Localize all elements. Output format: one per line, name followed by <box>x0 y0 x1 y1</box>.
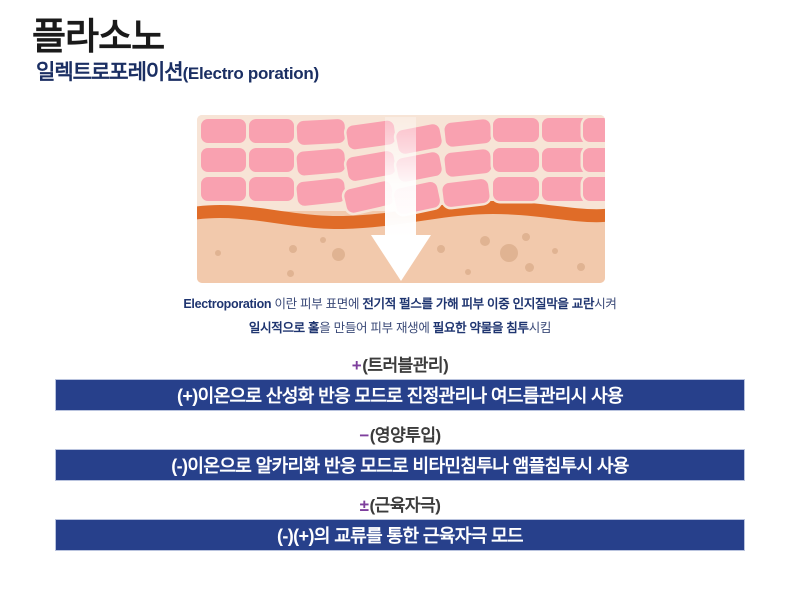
mode-label-trouble-care: +(트러블관리) <box>0 352 800 379</box>
plus-minus-sign-icon: ± <box>360 496 370 515</box>
mode-bar-text: (-)(+)의 교류를 통한 근육자극 모드 <box>277 522 523 548</box>
skin-cell <box>201 177 246 201</box>
particle <box>289 245 297 253</box>
particle <box>577 263 585 271</box>
skin-cell <box>583 148 605 172</box>
mode-bar-nutrition[interactable]: (-)이온으로 알카리화 반응 모드로 비타민침투나 앰플침투시 사용 <box>55 449 745 481</box>
mode-bar-text: (+)이온으로 산성화 반응 모드로 진정관리나 여드름관리시 사용 <box>177 382 623 408</box>
skin-cell <box>442 178 491 207</box>
particle <box>525 263 534 272</box>
skin-cell <box>493 148 539 172</box>
particle <box>320 237 326 243</box>
mode-bar-text: (-)이온으로 알카리화 반응 모드로 비타민침투나 앰플침투시 사용 <box>171 452 629 478</box>
mode-bar-trouble-care[interactable]: (+)이온으로 산성화 반응 모드로 진정관리나 여드름관리시 사용 <box>55 379 745 411</box>
downward-arrow-icon <box>357 117 445 281</box>
arrow-stem <box>385 117 416 239</box>
skin-cell <box>583 118 605 142</box>
spacer <box>0 481 800 492</box>
description-line-1: Electroporation 이란 피부 표면에 전기적 펄스를 가해 피부 … <box>0 292 800 316</box>
mode-label-nutrition: −(영양투입) <box>0 422 800 449</box>
page-header: 플라소노 일렉트로포레이션(Electro poration) <box>32 18 672 84</box>
skin-cell <box>493 118 539 142</box>
plain-text: 을 만들어 피부 재생에 <box>319 321 433 335</box>
emphasis-text: 전기적 펄스를 가해 피부 이중 인지질막을 교란 <box>362 297 594 311</box>
skin-cell <box>296 148 346 176</box>
mode-label-text: (근육자극) <box>369 496 440 515</box>
skin-cell <box>444 149 492 178</box>
particle <box>522 233 530 241</box>
mode-block-nutrition: −(영양투입) (-)이온으로 알카리화 반응 모드로 비타민침투나 앰플침투시… <box>0 422 800 481</box>
plus-sign-icon: + <box>352 356 362 375</box>
mode-label-text: (영양투입) <box>370 426 441 445</box>
particle <box>552 248 558 254</box>
skin-cell <box>249 148 294 172</box>
arrow-head <box>371 235 431 281</box>
skin-cell <box>444 119 492 148</box>
plain-text: 시켜 <box>594 297 616 311</box>
skin-cell <box>249 177 294 201</box>
particle <box>465 269 471 275</box>
skin-cell <box>296 119 345 145</box>
subtitle-korean: 일렉트로포레이션 <box>36 61 183 84</box>
plain-text: 시킴 <box>529 321 551 335</box>
mode-bar-muscle-stimulation[interactable]: (-)(+)의 교류를 통한 근육자극 모드 <box>55 519 745 551</box>
plain-text: 이란 피부 표면에 <box>271 297 362 311</box>
skin-cell <box>201 148 246 172</box>
page-title: 플라소노 <box>32 18 672 57</box>
emphasis-text: 필요한 약물을 침투 <box>433 321 529 335</box>
particle <box>480 236 490 246</box>
skin-cell <box>493 177 539 201</box>
mode-block-trouble-care: +(트러블관리) (+)이온으로 산성화 반응 모드로 진정관리나 여드름관리시… <box>0 352 800 411</box>
minus-sign-icon: − <box>359 426 369 445</box>
skin-cell <box>201 119 246 143</box>
description-text: Electroporation 이란 피부 표면에 전기적 펄스를 가해 피부 … <box>0 292 800 341</box>
skin-cell <box>296 178 346 207</box>
subtitle-english: (Electro poration) <box>183 64 319 83</box>
particle <box>215 250 221 256</box>
skin-cell <box>583 177 605 201</box>
page-subtitle: 일렉트로포레이션(Electro poration) <box>36 61 672 84</box>
skin-cell <box>542 118 588 142</box>
skin-cell <box>542 148 588 172</box>
mode-label-text: (트러블관리) <box>362 356 448 375</box>
mode-block-muscle-stimulation: ±(근육자극) (-)(+)의 교류를 통한 근육자극 모드 <box>0 492 800 551</box>
skin-cell <box>542 177 588 201</box>
mode-list: +(트러블관리) (+)이온으로 산성화 반응 모드로 진정관리나 여드름관리시… <box>0 352 800 551</box>
emphasis-text: 일시적으로 홀 <box>249 321 319 335</box>
skin-cross-section-illustration <box>197 115 605 283</box>
spacer <box>0 411 800 422</box>
description-line-2: 일시적으로 홀을 만들어 피부 재생에 필요한 약물을 침투시킴 <box>0 316 800 340</box>
particle <box>287 270 294 277</box>
skin-cell <box>249 119 294 143</box>
emphasis-text: Electroporation <box>183 297 271 311</box>
mode-label-muscle-stimulation: ±(근육자극) <box>0 492 800 519</box>
particle <box>500 244 518 262</box>
particle <box>332 248 345 261</box>
